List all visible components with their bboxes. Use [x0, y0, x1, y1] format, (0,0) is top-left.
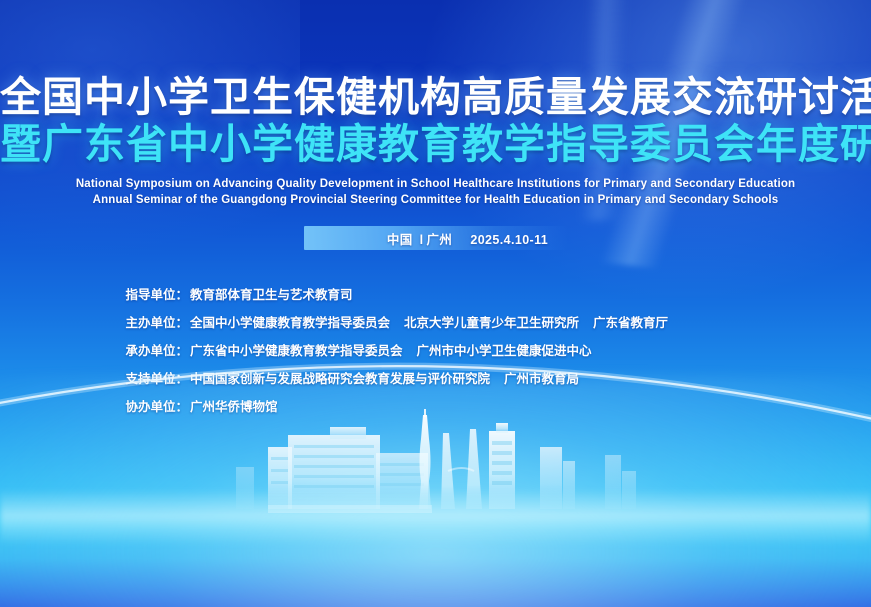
organizer-label: 支持单位：: [126, 372, 189, 387]
organizer-name: 广东省教育厅: [593, 316, 668, 330]
poster-subtitle: National Symposium on Advancing Quality …: [0, 176, 871, 208]
organizer-label: 协办单位：: [126, 400, 189, 415]
subtitle-line-1: National Symposium on Advancing Quality …: [0, 176, 871, 192]
subtitle-line-2: Annual Seminar of the Guangdong Provinci…: [0, 192, 871, 208]
venue-date: 2025.4.10-11: [470, 233, 548, 247]
organizer-values: 中国国家创新与发展战略研究会教育发展与评价研究院广州市教育局: [190, 372, 745, 387]
venue-separator: l: [420, 233, 424, 247]
organizer-list: 指导单位：教育部体育卫生与艺术教育司主办单位：全国中小学健康教育教学指导委员会北…: [0, 288, 871, 428]
organizer-name: 中国国家创新与发展战略研究会教育发展与评价研究院: [190, 372, 490, 386]
organizer-values: 教育部体育卫生与艺术教育司: [190, 288, 745, 303]
venue-date-text: 中国l广州2025.4.10-11: [336, 229, 600, 248]
organizer-label: 承办单位：: [126, 344, 189, 359]
organizer-name: 广州市中小学卫生健康促进中心: [417, 344, 592, 358]
organizer-values: 全国中小学健康教育教学指导委员会北京大学儿童青少年卫生研究所广东省教育厅: [190, 316, 745, 331]
office-tower: [489, 423, 515, 509]
organizer-name: 教育部体育卫生与艺术教育司: [190, 288, 353, 302]
title-line-primary: 全国中小学卫生保健机构高质量发展交流研讨活动: [0, 74, 871, 121]
organizer-row: 指导单位：教育部体育卫生与艺术教育司: [126, 288, 746, 303]
poster-headline: 全国中小学卫生保健机构高质量发展交流研讨活动 暨广东省中小学健康教育教学指导委员…: [0, 74, 871, 168]
title-line-secondary: 暨广东省中小学健康教育教学指导委员会年度研讨活动: [0, 121, 871, 168]
twin-towers: [441, 429, 482, 509]
school-building: [268, 427, 432, 513]
venue-date-bar: 中国l广州2025.4.10-11: [304, 226, 568, 250]
organizer-label: 主办单位：: [126, 316, 189, 331]
organizer-row: 支持单位：中国国家创新与发展战略研究会教育发展与评价研究院广州市教育局: [126, 372, 746, 387]
venue-bar-wrapper: 中国l广州2025.4.10-11: [0, 226, 871, 250]
distant-skyscrapers: [236, 447, 636, 509]
organizer-label: 指导单位：: [126, 288, 189, 303]
venue-country: 中国: [387, 233, 413, 247]
conference-poster: 全国中小学卫生保健机构高质量发展交流研讨活动 暨广东省中小学健康教育教学指导委员…: [0, 0, 871, 607]
organizer-row: 协办单位：广州华侨博物馆: [126, 400, 746, 415]
organizer-name: 北京大学儿童青少年卫生研究所: [404, 316, 579, 330]
organizer-name: 全国中小学健康教育教学指导委员会: [190, 316, 390, 330]
organizer-values: 广州华侨博物馆: [190, 400, 745, 415]
organizer-values: 广东省中小学健康教育教学指导委员会广州市中小学卫生健康促进中心: [190, 344, 745, 359]
venue-city: 广州: [427, 233, 453, 247]
organizer-name: 广州华侨博物馆: [190, 400, 278, 414]
ground-haze: [0, 489, 871, 545]
organizer-name: 广东省中小学健康教育教学指导委员会: [190, 344, 403, 358]
organizer-name: 广州市教育局: [504, 372, 579, 386]
organizer-row: 承办单位：广东省中小学健康教育教学指导委员会广州市中小学卫生健康促进中心: [126, 344, 746, 359]
organizer-row: 主办单位：全国中小学健康教育教学指导委员会北京大学儿童青少年卫生研究所广东省教育…: [126, 316, 746, 331]
